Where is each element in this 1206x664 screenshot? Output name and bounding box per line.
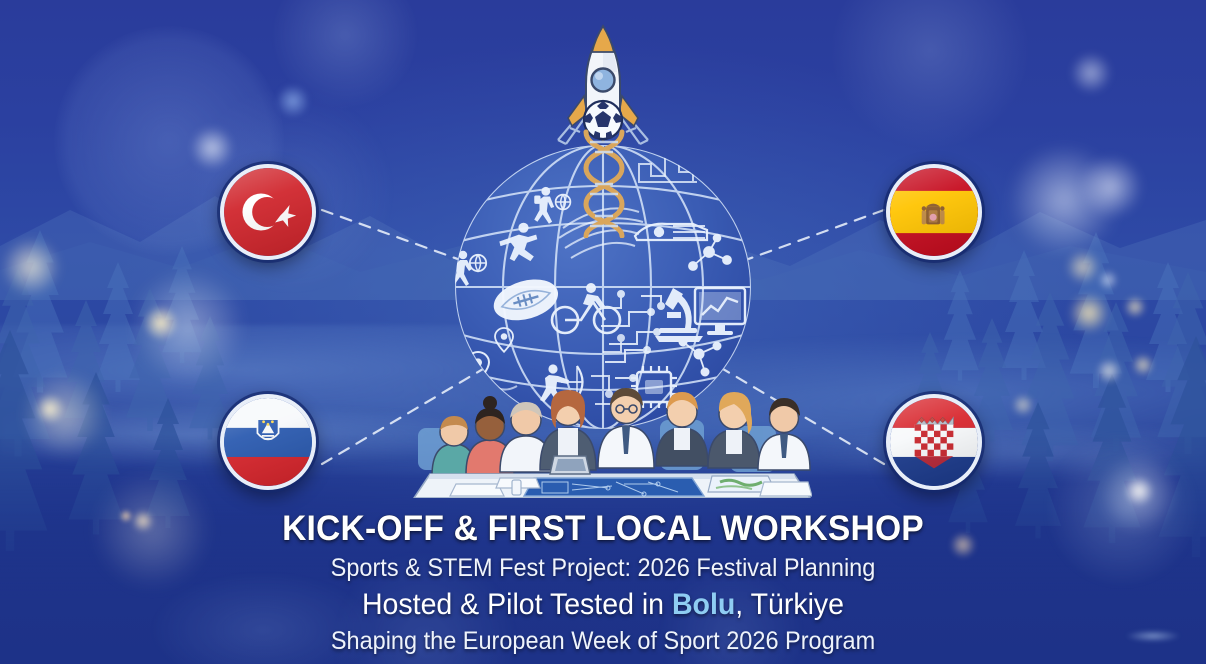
flag-gloss: [224, 398, 312, 486]
flag-gloss: [890, 168, 978, 256]
partner-flag-turkiye[interactable]: [220, 164, 316, 260]
corner-watermark: [1126, 630, 1180, 642]
partner-flag-spain[interactable]: [886, 164, 982, 260]
poster-subtitle-project: Sports & STEM Fest Project: 2026 Festiva…: [36, 554, 1170, 584]
laptop-icon: [550, 456, 590, 474]
flag-gloss: [224, 168, 312, 256]
poster-subtitle-location: Hosted & Pilot Tested in Bolu, Türkiye: [30, 587, 1176, 622]
workshop-team-illustration: [412, 358, 812, 498]
rocket-window: [592, 69, 615, 92]
rocket-nose-cone: [592, 26, 614, 52]
location-suffix: , Türkiye: [735, 588, 844, 621]
poster-text-block: KICK-OFF & FIRST LOCAL WORKSHOP Sports &…: [0, 509, 1206, 656]
dna-helix-icon: [566, 128, 642, 238]
poster-subtitle-program: Shaping the European Week of Sport 2026 …: [36, 627, 1170, 657]
partner-flag-slovenia[interactable]: [220, 394, 316, 490]
flag-gloss: [890, 398, 978, 486]
person-figure: [598, 388, 654, 468]
poster-canvas: KICK-OFF & FIRST LOCAL WORKSHOP Sports &…: [0, 0, 1206, 664]
location-prefix: Hosted & Pilot Tested in: [362, 588, 672, 621]
location-highlight-bolu: Bolu: [672, 588, 735, 621]
poster-title: KICK-OFF & FIRST LOCAL WORKSHOP: [24, 509, 1182, 548]
partner-flag-croatia[interactable]: [886, 394, 982, 490]
blueprint-document: [524, 478, 704, 496]
cup-icon: [512, 480, 521, 495]
